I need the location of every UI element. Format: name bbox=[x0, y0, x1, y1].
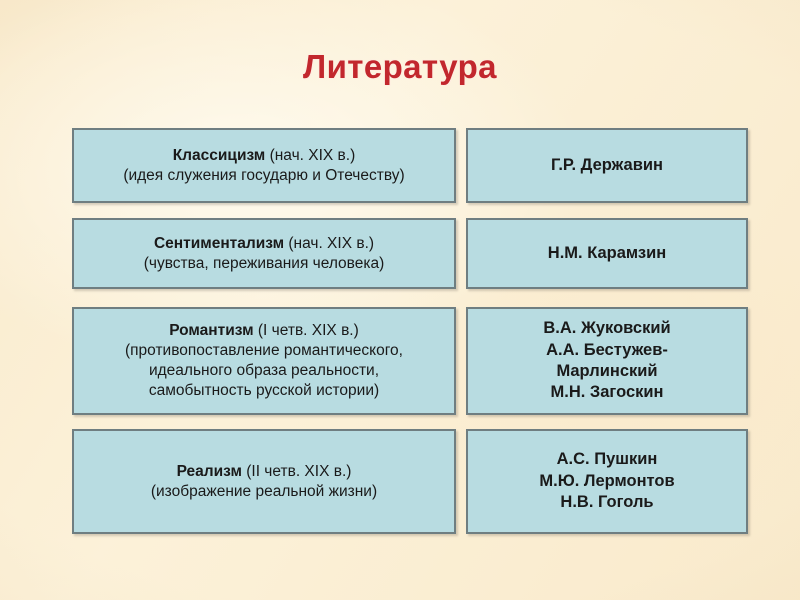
movement-description-line: самобытность русской истории) bbox=[81, 381, 447, 401]
authors-box[interactable]: Н.М. Карамзин bbox=[466, 218, 748, 289]
movement-term: Классицизм bbox=[173, 147, 266, 164]
page-title: Литература bbox=[0, 48, 800, 86]
authors-box[interactable]: Г.Р. Державин bbox=[466, 128, 748, 203]
movement-description-line: (чувства, переживания человека) bbox=[81, 254, 447, 274]
movement-heading: Классицизм (нач. XIX в.) bbox=[81, 146, 447, 166]
movement-description-line: (идея служения государю и Отечеству) bbox=[81, 166, 447, 186]
author-name: Н.В. Гоголь bbox=[475, 492, 739, 513]
author-name: Н.М. Карамзин bbox=[475, 243, 739, 264]
movement-description-line: (противопоставление романтического, bbox=[81, 341, 447, 361]
movement-box[interactable]: Реализм (II четв. XIX в.) (изображение р… bbox=[72, 429, 456, 534]
author-name: Марлинский bbox=[475, 361, 739, 382]
movement-term: Романтизм bbox=[169, 322, 253, 339]
author-name: М.Ю. Лермонтов bbox=[475, 471, 739, 492]
author-name: М.Н. Загоскин bbox=[475, 382, 739, 403]
author-name: А.А. Бестужев- bbox=[475, 340, 739, 361]
movement-period: (II четв. XIX в.) bbox=[242, 463, 352, 480]
movement-box[interactable]: Романтизм (I четв. XIX в.) (противопоста… bbox=[72, 307, 456, 415]
slide-canvas: Литература Классицизм (нач. XIX в.) (иде… bbox=[0, 0, 800, 600]
movement-heading: Романтизм (I четв. XIX в.) bbox=[81, 321, 447, 341]
movement-box[interactable]: Классицизм (нач. XIX в.) (идея служения … bbox=[72, 128, 456, 203]
movement-heading: Реализм (II четв. XIX в.) bbox=[81, 462, 447, 482]
movement-term: Реализм bbox=[177, 463, 242, 480]
movement-period: (I четв. XIX в.) bbox=[254, 322, 359, 339]
authors-box[interactable]: А.С. Пушкин М.Ю. Лермонтов Н.В. Гоголь bbox=[466, 429, 748, 534]
movement-period: (нач. XIX в.) bbox=[284, 235, 374, 252]
author-name: А.С. Пушкин bbox=[475, 449, 739, 470]
movement-description-line: (изображение реальной жизни) bbox=[81, 482, 447, 502]
movement-term: Сентиментализм bbox=[154, 235, 284, 252]
movement-box[interactable]: Сентиментализм (нач. XIX в.) (чувства, п… bbox=[72, 218, 456, 289]
author-name: Г.Р. Державин bbox=[475, 155, 739, 176]
movement-period: (нач. XIX в.) bbox=[265, 147, 355, 164]
author-name: В.А. Жуковский bbox=[475, 318, 739, 339]
movement-heading: Сентиментализм (нач. XIX в.) bbox=[81, 234, 447, 254]
authors-box[interactable]: В.А. Жуковский А.А. Бестужев- Марлинский… bbox=[466, 307, 748, 415]
movement-description-line: идеального образа реальности, bbox=[81, 361, 447, 381]
